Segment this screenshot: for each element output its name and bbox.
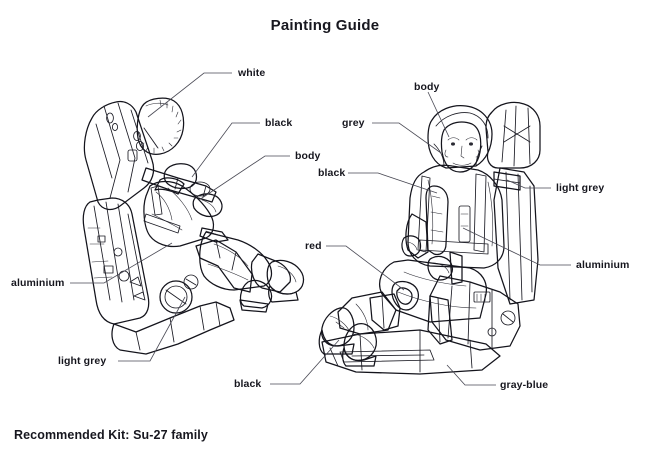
leader-gray-blue	[447, 365, 496, 385]
callout-right-light-grey: light grey	[556, 182, 604, 194]
right-figure-leader-lines	[270, 92, 571, 385]
leader-body	[428, 92, 449, 137]
callout-right-aluminium: aluminium	[576, 259, 629, 271]
right-figure-pilot	[319, 106, 504, 366]
right-figure-seat	[322, 102, 540, 374]
callout-right-body: body	[414, 81, 439, 93]
recommended-kit-note: Recommended Kit: Su-27 family	[14, 428, 208, 442]
left-figure-seat	[83, 98, 252, 354]
leader-body	[199, 156, 290, 200]
leader-red	[326, 246, 404, 290]
leader-black	[192, 123, 260, 177]
callout-right-gray-blue: gray-blue	[500, 379, 548, 391]
callout-left-black: black	[265, 117, 292, 129]
painting-guide-illustration	[0, 0, 650, 459]
callout-left-aluminium: aluminium	[11, 277, 64, 289]
leader-light-grey	[507, 180, 551, 188]
callout-right-grey: grey	[342, 117, 365, 129]
leader-black-boots	[270, 340, 339, 384]
leader-grey	[372, 123, 441, 153]
callout-right-black-boots: black	[234, 378, 261, 390]
callout-right-red: red	[305, 240, 322, 252]
callout-left-body: body	[295, 150, 320, 162]
leader-aluminium	[463, 228, 571, 265]
callout-right-black-chest: black	[318, 167, 345, 179]
callout-left-white: white	[238, 67, 265, 79]
leader-white	[148, 73, 232, 117]
callout-left-light-grey: light grey	[58, 355, 106, 367]
